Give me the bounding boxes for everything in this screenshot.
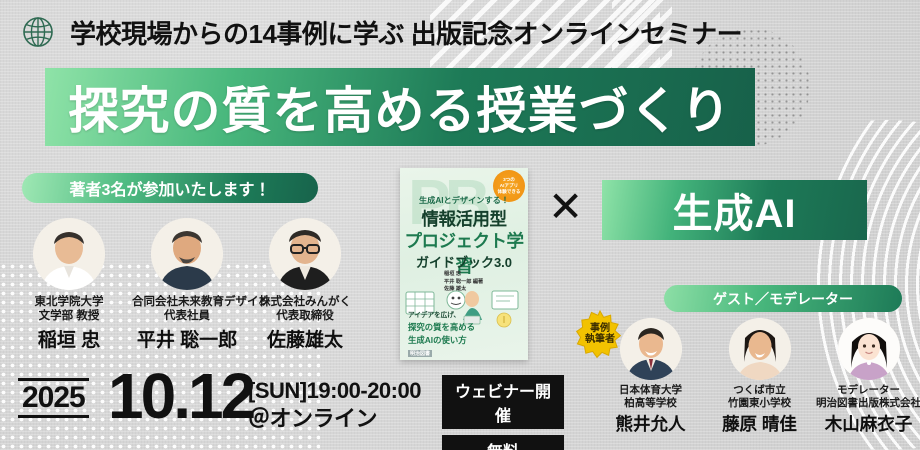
guest-name: 熊井允人 <box>598 411 703 436</box>
avatar <box>33 218 105 290</box>
author-card: 東北学院大学 文学部 教授 稲垣 忠 <box>14 218 124 352</box>
generative-ai-band: 生成AI <box>602 180 867 240</box>
guest-org-line1: つくば市立 <box>707 384 812 397</box>
book-publisher: 明治図書 <box>408 350 432 357</box>
header: 学校現場からの14事例に学ぶ 出版記念オンラインセミナー <box>18 12 742 52</box>
avatar <box>620 318 682 380</box>
year-label: 2025 <box>22 382 85 414</box>
case-author-star-badge: 事例 執筆者 <box>576 310 624 358</box>
guest-org-line1: 日本体育大学 <box>598 384 703 397</box>
guest-org-line2: 明治図書出版株式会社 <box>816 397 920 410</box>
author-org-line1: 東北学院大学 <box>14 295 124 309</box>
guest-name: 木山麻衣子 <box>816 411 920 436</box>
author-org-line2: 代表取締役 <box>250 309 360 323</box>
guest-org-line1: モデレーター <box>816 384 920 397</box>
header-title: 学校現場からの14事例に学ぶ 出版記念オンラインセミナー <box>70 14 742 51</box>
guest-name: 藤原 晴佳 <box>707 411 812 436</box>
guest-org-line2: 柏高等学校 <box>598 397 703 410</box>
author-org-line2: 代表社員 <box>132 309 242 323</box>
guest-pill-label: ゲスト／モデレーター <box>713 289 853 309</box>
author-org-line1: 合同会社未来教育デザイン <box>132 295 242 309</box>
tag-free: 無料 <box>442 435 564 450</box>
book-bottom-text: アイデアを広げ、 探究の質を高める 生成AIの使い方 <box>408 311 475 347</box>
book-lead-text: 生成AIとデザインする！ <box>400 194 528 206</box>
book-title-line3: ガイドブック3.0 <box>400 252 528 271</box>
authors-pill-badge: 著者3名が参加いたします！ <box>22 173 318 203</box>
book-bottom-line3: 生成AIの使い方 <box>408 335 467 345</box>
guest-card: モデレーター 明治図書出版株式会社 木山麻衣子 <box>816 318 920 436</box>
book-bottom-line1: アイデアを広げ、 <box>408 312 460 319</box>
guest-card: つくば市立 竹園東小学校 藤原 晴佳 <box>707 318 812 436</box>
book-cover: PB 3つの AIアプリ 体験できる 生成AIとデザインする！ 情報活用型 プロ… <box>400 168 528 360</box>
main-title-band: 探究の質を高める授業づくり <box>45 68 755 146</box>
globe-icon <box>18 12 58 52</box>
author-name: 平井 聡一郎 <box>132 325 242 352</box>
author-name: 佐藤雄太 <box>250 325 360 352</box>
avatar <box>838 318 900 380</box>
tag-webinar: ウェビナー開催 <box>442 375 564 429</box>
guests-list: 事例 執筆者 日本体育大学 柏高等学校 熊井允人 <box>598 318 920 436</box>
author-card: 合同会社未来教育デザイン 代表社員 平井 聡一郎 <box>132 218 242 352</box>
page-title: 探究の質を高める授業づくり <box>69 71 732 143</box>
guest-card: 事例 執筆者 日本体育大学 柏高等学校 熊井允人 <box>598 318 703 436</box>
cross-symbol: ✕ <box>548 186 583 228</box>
guest-pill-badge: ゲスト／モデレーター <box>664 285 902 312</box>
author-org-line2: 文学部 教授 <box>14 309 124 323</box>
author-card: 株式会社みんがく 代表取締役 佐藤雄太 <box>250 218 360 352</box>
event-date: 10.12 <box>108 364 253 428</box>
book-bottom-line2: 探究の質を高める <box>408 322 475 332</box>
star-badge-line2: 執筆者 <box>585 334 615 346</box>
event-time-block: [SUN]19:00-20:00 ＠オンライン <box>248 377 421 432</box>
avatar <box>729 318 791 380</box>
authors-pill-label: 著者3名が参加いたします！ <box>70 176 271 200</box>
avatar <box>151 218 223 290</box>
authors-list: 東北学院大学 文学部 教授 稲垣 忠 合同会社未来教育デザイン 代表社員 平井 … <box>14 218 360 352</box>
event-tags: ウェビナー開催 無料 <box>442 375 564 450</box>
event-time: [SUN]19:00-20:00 <box>248 377 421 405</box>
event-place: ＠オンライン <box>248 405 421 433</box>
guest-org-line2: 竹園東小学校 <box>707 397 812 410</box>
generative-ai-label: 生成AI <box>673 181 797 239</box>
avatar <box>269 218 341 290</box>
year-box: 2025 <box>18 378 89 418</box>
star-badge-line1: 事例 <box>590 323 610 335</box>
webinar-banner: 学校現場からの14事例に学ぶ 出版記念オンラインセミナー 探究の質を高める授業づ… <box>0 0 920 450</box>
author-name: 稲垣 忠 <box>14 325 124 352</box>
author-org-line1: 株式会社みんがく <box>250 295 360 309</box>
